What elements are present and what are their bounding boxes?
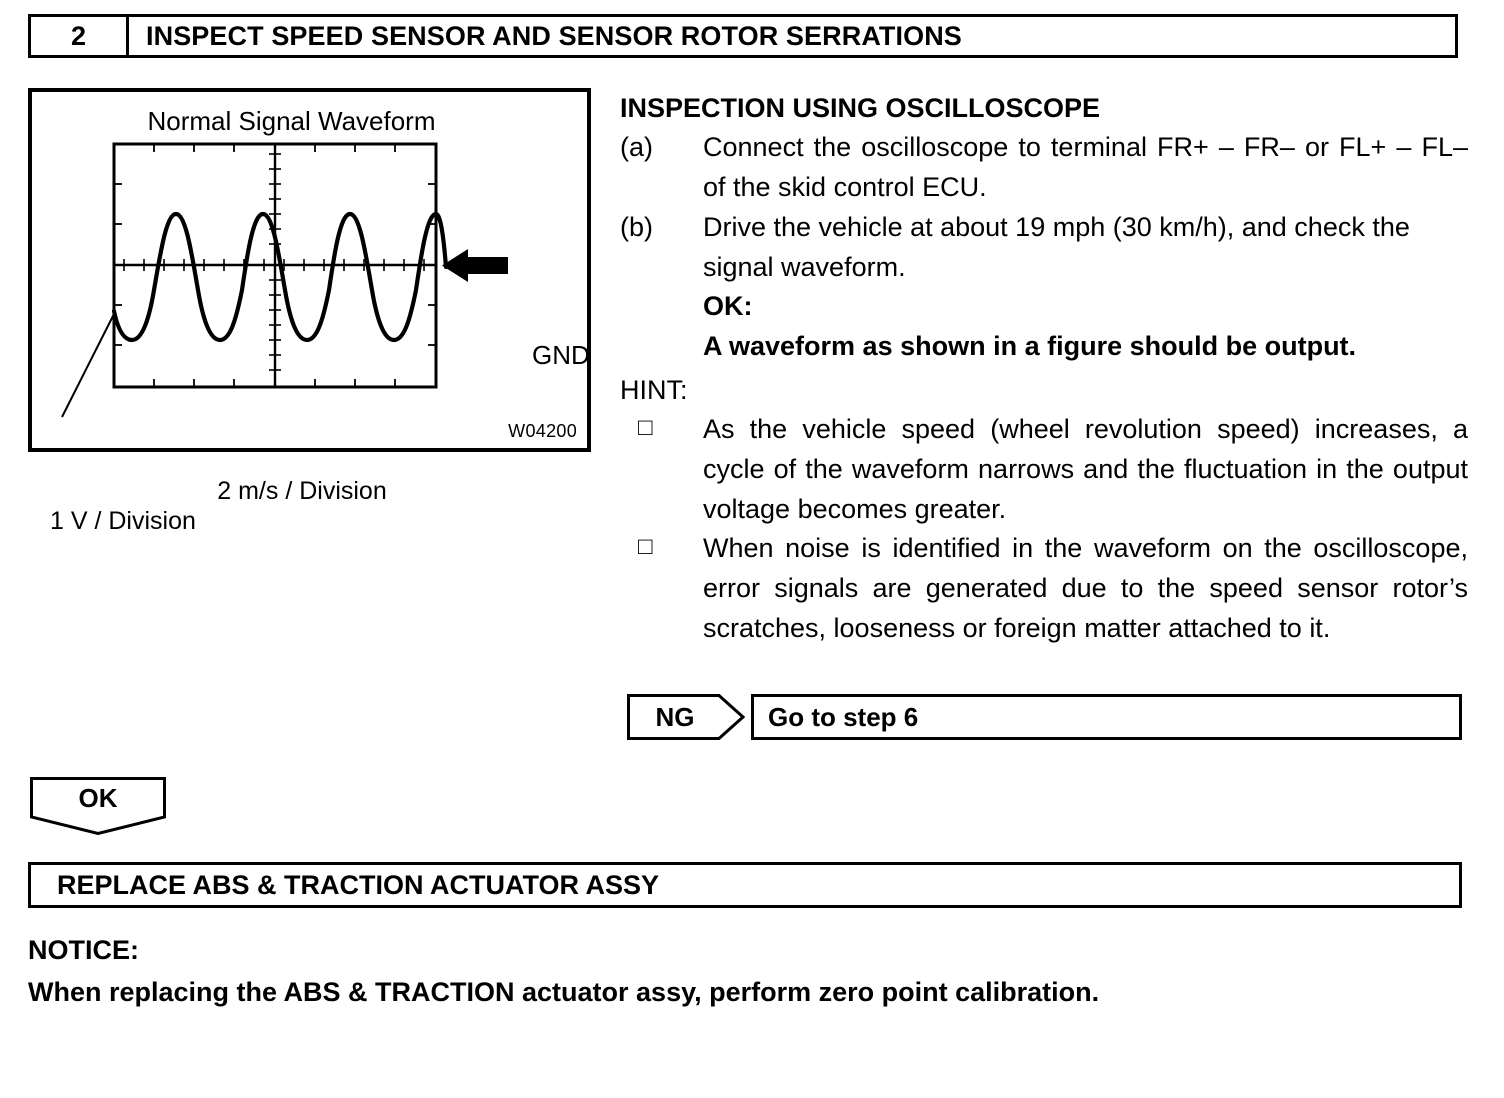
ng-result-row: NG Go to step 6 — [627, 694, 1462, 740]
step-header-bar: 2 INSPECT SPEED SENSOR AND SENSOR ROTOR … — [28, 14, 1458, 58]
ng-destination-box[interactable]: Go to step 6 — [751, 694, 1462, 740]
procedure-step-a: (a) Connect the oscilloscope to terminal… — [620, 128, 1468, 207]
procedure-ok-label: OK: — [703, 287, 1468, 327]
procedure-ok-criteria-row: A waveform as shown in a figure should b… — [620, 327, 1468, 367]
oscilloscope-graph — [32, 92, 587, 448]
procedure-ok-criteria-spacer — [620, 327, 703, 367]
procedure-step-a-text: Connect the oscilloscope to terminal FR+… — [703, 128, 1468, 207]
gnd-arrow-icon — [442, 249, 508, 282]
waveform-figure-panel: Normal Signal Waveform — [28, 88, 591, 452]
ok-label: OK — [30, 777, 166, 819]
notice-block: NOTICE: When replacing the ABS & TRACTIO… — [28, 930, 1462, 1014]
procedure-ok-criteria: A waveform as shown in a figure should b… — [703, 327, 1468, 367]
hint-bullet-icon: □ — [620, 410, 703, 529]
signal-waveform-trace — [114, 214, 446, 340]
procedure-step-a-marker: (a) — [620, 128, 703, 207]
hint-item-1-text: As the vehicle speed (wheel revolution s… — [703, 410, 1468, 529]
figure-x-axis-label: 2 m/s / Division — [142, 477, 462, 506]
notice-text: When replacing the ABS & TRACTION actuat… — [28, 972, 1462, 1014]
procedure-heading: INSPECTION USING OSCILLOSCOPE — [620, 90, 1468, 126]
procedure-step-b: (b) Drive the vehicle at about 19 mph (3… — [620, 208, 1468, 287]
ok-tag: OK — [30, 777, 166, 835]
procedure-ok-label-row: OK: — [620, 287, 1468, 327]
hint-item-2: □ When noise is identified in the wavefo… — [620, 529, 1468, 648]
step-title: INSPECT SPEED SENSOR AND SENSOR ROTOR SE… — [129, 17, 1455, 55]
hint-item-1: □ As the vehicle speed (wheel revolution… — [620, 410, 1468, 529]
step-number: 2 — [31, 17, 129, 55]
hint-item-2-text: When noise is identified in the waveform… — [703, 529, 1468, 648]
y-axis-leader-line — [62, 314, 114, 417]
procedure-step-b-text: Drive the vehicle at about 19 mph (30 km… — [703, 208, 1468, 287]
gnd-label: GND — [532, 340, 590, 371]
notice-heading: NOTICE: — [28, 930, 1462, 972]
hint-heading: HINT: — [620, 371, 1468, 411]
hint-bullet-icon: □ — [620, 529, 703, 648]
figure-code: W04200 — [508, 421, 577, 442]
result-action-bar: REPLACE ABS & TRACTION ACTUATOR ASSY — [28, 862, 1462, 908]
procedure-step-b-marker: (b) — [620, 208, 703, 287]
procedure-content: INSPECTION USING OSCILLOSCOPE (a) Connec… — [620, 90, 1468, 648]
ng-tag: NG — [627, 694, 745, 740]
ng-label: NG — [627, 694, 723, 740]
procedure-ok-spacer — [620, 287, 703, 327]
figure-y-axis-label: 1 V / Division — [50, 507, 196, 536]
